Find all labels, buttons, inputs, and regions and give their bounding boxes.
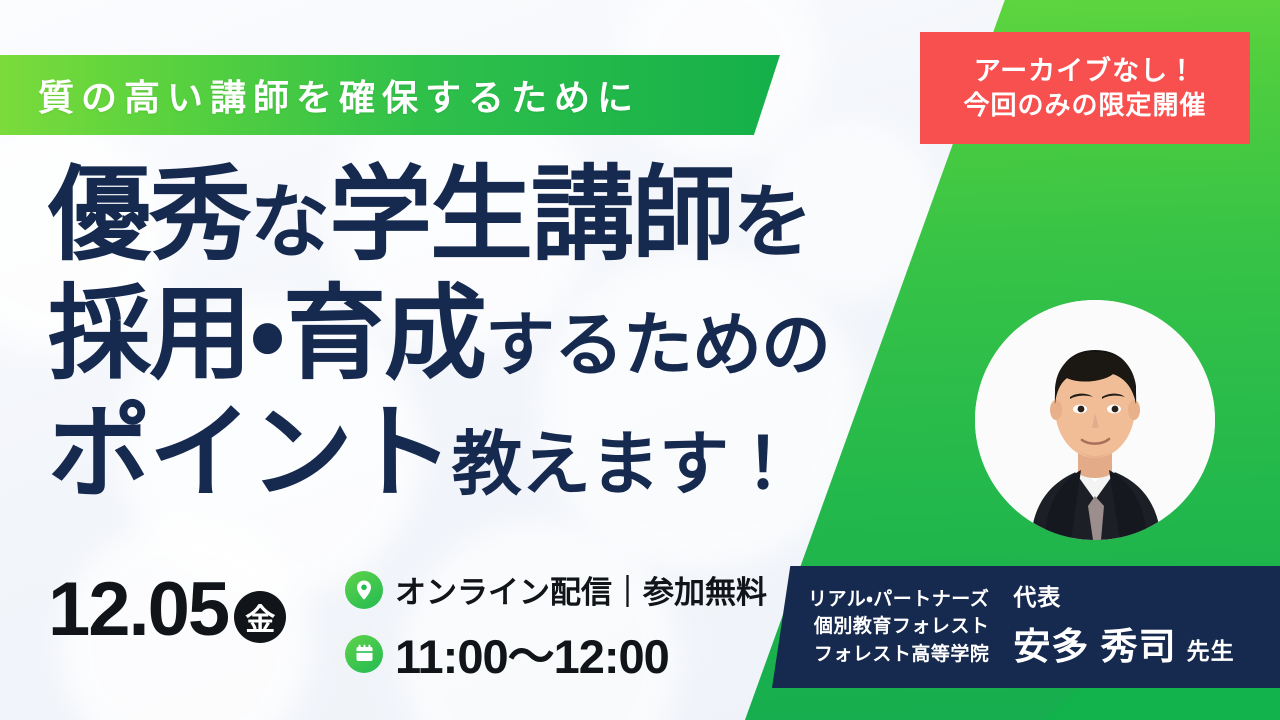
headline-line-3: ポイント 教えます！ xyxy=(48,401,988,504)
headline-l1-part2: な xyxy=(250,183,329,263)
weekday-badge: 金 xyxy=(234,591,286,643)
headline-l3-part1: ポイント xyxy=(48,401,452,504)
event-time-row: 11:00〜12:00 xyxy=(345,618,767,687)
ribbon-banner: 質の高い講師を確保するために xyxy=(0,55,780,135)
speaker-org-line-2: 個別教育フォレスト xyxy=(814,613,990,641)
speaker-honorific: 先生 xyxy=(1187,632,1235,666)
speaker-info-box: リアル・パートナーズ 個別教育フォレスト フォレスト高等学院 代表 安多 秀司 … xyxy=(772,566,1280,688)
speaker-name-row: 安多 秀司 先生 xyxy=(1013,616,1234,670)
ribbon-label: 質の高い講師を確保するために xyxy=(38,69,640,121)
headline-l1-part1: 優秀 xyxy=(48,163,250,266)
webinar-promo-banner: 質の高い講師を確保するために アーカイブなし！ 今回のみの限定開催 優秀 な 学… xyxy=(0,0,1280,720)
headline-l3-part2: 教えます！ xyxy=(452,429,797,499)
speaker-organizations: リアル・パートナーズ 個別教育フォレスト フォレスト高等学院 xyxy=(808,586,989,669)
headline-l1-part3: 学生講師 xyxy=(329,163,733,266)
speaker-portrait xyxy=(975,300,1215,540)
headline-l2-part2: するための xyxy=(485,310,830,380)
headline-line-2: 採用・育成 するための xyxy=(48,282,988,385)
event-date-block: 12.05 金 xyxy=(48,572,286,648)
limited-offer-badge: アーカイブなし！ 今回のみの限定開催 xyxy=(920,32,1250,144)
event-info-block: オンライン配信｜参加無料 11:00〜12:00 xyxy=(345,567,767,693)
event-format-row: オンライン配信｜参加無料 xyxy=(345,567,767,612)
speaker-org-line-3: フォレスト高等学院 xyxy=(814,641,990,669)
headline-line-1: 優秀 な 学生講師 を xyxy=(48,163,988,266)
map-pin-icon xyxy=(345,571,383,609)
badge-line-2: 今回のみの限定開催 xyxy=(963,91,1206,121)
headline-l1-part4: を xyxy=(733,183,812,263)
speaker-title: 代表 xyxy=(1013,584,1061,612)
speaker-name: 安多 秀司 xyxy=(1013,616,1176,670)
event-format-label: オンライン配信｜参加無料 xyxy=(395,567,767,612)
calendar-icon xyxy=(345,635,383,673)
speaker-org-line-1: リアル・パートナーズ xyxy=(808,586,989,614)
speaker-name-block: 代表 安多 秀司 先生 xyxy=(1013,584,1234,670)
speaker-portrait-image xyxy=(975,300,1215,540)
headline: 優秀 な 学生講師 を 採用・育成 するための ポイント 教えます！ xyxy=(48,163,988,504)
badge-line-1: アーカイブなし！ xyxy=(974,56,1196,87)
event-time-label: 11:00〜12:00 xyxy=(395,618,669,687)
headline-l2-part1: 採用・育成 xyxy=(48,282,485,385)
event-date: 12.05 xyxy=(48,572,228,648)
